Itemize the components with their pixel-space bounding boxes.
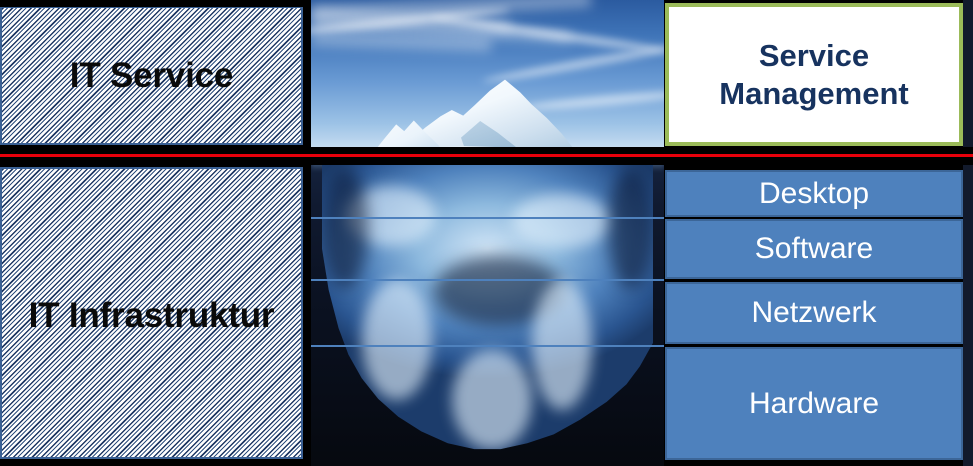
layer-box-software-label: Software xyxy=(755,232,873,266)
panel-it-infrastruktur: IT Infrastruktur xyxy=(0,167,303,459)
iceberg-photo xyxy=(311,0,664,466)
iceberg-diagram: IT Service IT Infrastruktur Service Mana… xyxy=(0,0,973,466)
panel-it-service-label: IT Service xyxy=(70,56,233,96)
right-edge-strip xyxy=(963,0,973,466)
layer-box-software: Software xyxy=(665,219,963,279)
photo-divider-netzwerk xyxy=(311,345,664,347)
layer-box-hardware: Hardware xyxy=(665,347,963,460)
cloud-wisp xyxy=(521,89,664,113)
layer-box-desktop-label: Desktop xyxy=(759,177,869,211)
layer-box-netzwerk-label: Netzwerk xyxy=(751,296,876,330)
panel-it-infrastruktur-label: IT Infrastruktur xyxy=(29,296,275,336)
waterline-red-line xyxy=(0,154,973,157)
service-management-line2: Management xyxy=(719,75,908,113)
panel-it-service: IT Service xyxy=(0,6,303,145)
layer-box-desktop: Desktop xyxy=(665,170,963,217)
layer-box-netzwerk: Netzwerk xyxy=(665,282,963,344)
service-management-line1: Service xyxy=(719,37,908,75)
photo-divider-software xyxy=(311,279,664,281)
service-management-text: Service Management xyxy=(719,37,908,113)
photo-divider-desktop xyxy=(311,217,664,219)
service-management-card: Service Management xyxy=(665,3,963,146)
left-top-black-strip xyxy=(0,0,310,7)
layer-box-hardware-label: Hardware xyxy=(749,387,879,421)
